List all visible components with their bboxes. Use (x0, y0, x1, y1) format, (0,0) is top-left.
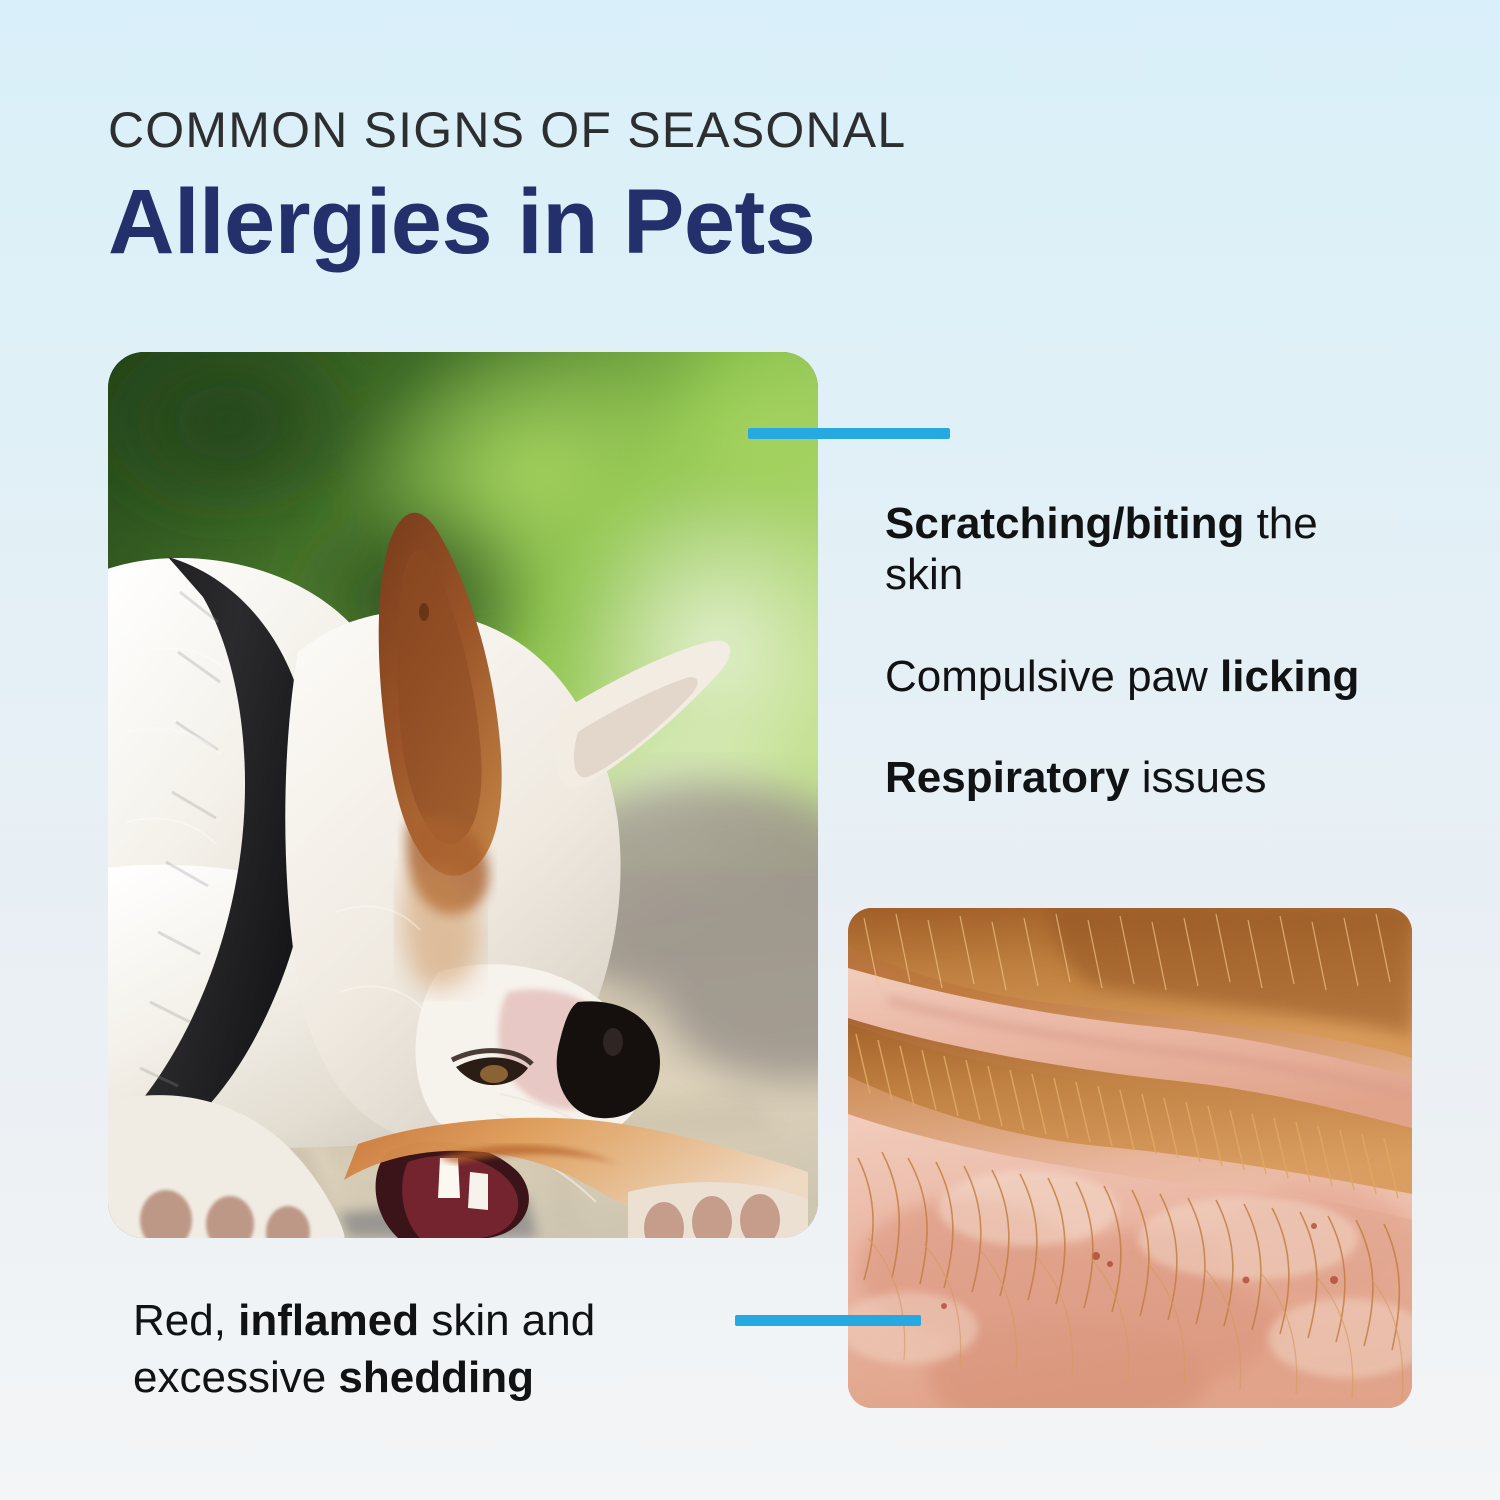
symptom-licking-lead: Compulsive paw (885, 652, 1220, 701)
symptom-respiratory-strong: Respiratory (885, 753, 1130, 802)
symptom-scratching-strong: Scratching/biting (885, 499, 1244, 548)
inflamed-skin-photo (848, 908, 1412, 1408)
dog-photo (108, 352, 818, 1238)
eyebrow-heading: COMMON SIGNS OF SEASONAL (108, 104, 906, 157)
inflamed-skin-closeup-illustration (848, 908, 1412, 1408)
infographic-poster: COMMON SIGNS OF SEASONAL Allergies in Pe… (0, 0, 1500, 1500)
caption-inflamed-shedding: Red, inflamed skin and excessive sheddin… (133, 1292, 753, 1406)
connector-line-top (748, 428, 950, 439)
caption-line2-b: shedding (338, 1353, 534, 1402)
dog-biting-paw-illustration (108, 352, 818, 1238)
symptom-licking-strong: licking (1220, 652, 1359, 701)
symptom-item-respiratory: Respiratory issues (885, 752, 1385, 803)
symptom-respiratory-rest: issues (1130, 753, 1267, 802)
caption-line1-c: skin and (419, 1296, 595, 1345)
symptom-item-scratching-biting: Scratching/biting the skin (885, 498, 1385, 601)
page-title: Allergies in Pets (108, 176, 815, 268)
symptom-item-paw-licking: Compulsive paw licking (885, 651, 1385, 702)
caption-line1-a: Red, (133, 1296, 238, 1345)
caption-line2-a: excessive (133, 1353, 338, 1402)
caption-line1-b: inflamed (238, 1296, 419, 1345)
symptom-list: Scratching/biting the skin Compulsive pa… (885, 498, 1385, 804)
connector-line-bottom (735, 1315, 921, 1326)
